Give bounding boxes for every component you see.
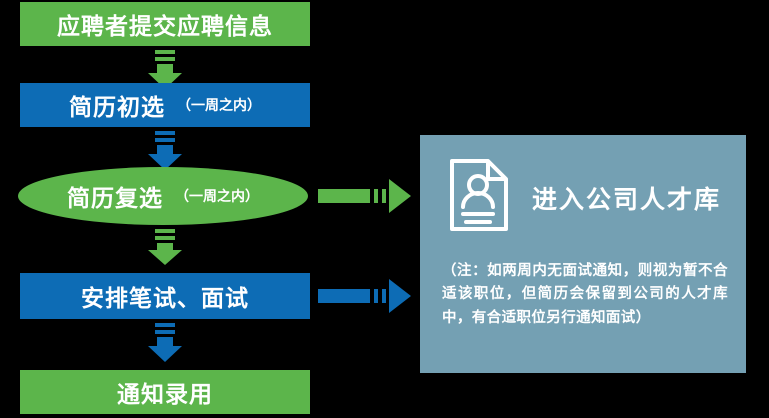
arrow-shaft <box>157 243 173 250</box>
flow-node-label: 简历复选 <box>67 179 163 213</box>
flow-node-arrange-test-interview[interactable]: 安排笔试、面试 <box>20 273 310 319</box>
arrow-tick-2 <box>382 189 386 203</box>
arrow-test-to-hire <box>148 323 182 362</box>
talent-pool-note: （注：如两周内无面试通知，则视为暂不合适该职位，但简历会保留到公司的人才库中，有… <box>420 238 746 330</box>
arrow-shaft <box>318 289 370 303</box>
arrow-shaft <box>157 145 173 154</box>
arrow-shaft <box>318 189 370 203</box>
arrow-shaft <box>157 337 173 346</box>
arrow-tick-2 <box>155 138 175 142</box>
arrow-tick-1 <box>155 229 175 233</box>
arrow-tick-1 <box>155 50 175 54</box>
flow-node-sublabel: （一周之内） <box>175 186 259 206</box>
talent-pool-title: 进入公司人才库 <box>532 180 721 216</box>
arrow-reselection-to-test <box>148 229 182 265</box>
flow-node-label: 通知录用 <box>117 375 213 409</box>
resume-person-document-icon <box>448 157 510 238</box>
flowchart-canvas: 应聘者提交应聘信息 简历初选 （一周之内） 简历复选 （一周之内） 安排笔试、面… <box>0 0 769 418</box>
arrow-head <box>389 279 411 313</box>
arrow-tick-2 <box>155 236 175 240</box>
arrow-shaft <box>157 64 173 73</box>
arrow-reselection-to-talent-pool <box>318 185 411 207</box>
arrow-tick-1 <box>155 131 175 135</box>
arrow-tick-1 <box>155 323 175 327</box>
arrow-tick-2 <box>155 330 175 334</box>
arrow-tick-2 <box>155 57 175 61</box>
arrow-head <box>389 179 411 213</box>
arrow-interview-to-talent-pool <box>318 285 411 307</box>
arrow-screening-to-reselection <box>148 131 182 170</box>
flow-node-resume-reselection[interactable]: 简历复选 （一周之内） <box>18 167 308 225</box>
talent-pool-header: 进入公司人才库 <box>420 135 746 238</box>
flow-node-resume-screening[interactable]: 简历初选 （一周之内） <box>20 83 310 127</box>
flow-node-notify-hire[interactable]: 通知录用 <box>20 370 310 414</box>
arrow-head <box>148 346 182 362</box>
flow-node-label: 应聘者提交应聘信息 <box>57 7 273 41</box>
talent-pool-panel[interactable]: 进入公司人才库 （注：如两周内无面试通知，则视为暂不合适该职位，但简历会保留到公… <box>420 135 746 373</box>
flow-node-label: 安排笔试、面试 <box>81 279 249 313</box>
flow-node-label: 简历初选 <box>69 88 165 122</box>
flow-node-sublabel: （一周之内） <box>177 95 261 115</box>
arrow-head <box>148 250 182 265</box>
arrow-tick-2 <box>382 289 386 303</box>
flow-node-submit-application[interactable]: 应聘者提交应聘信息 <box>20 2 310 46</box>
